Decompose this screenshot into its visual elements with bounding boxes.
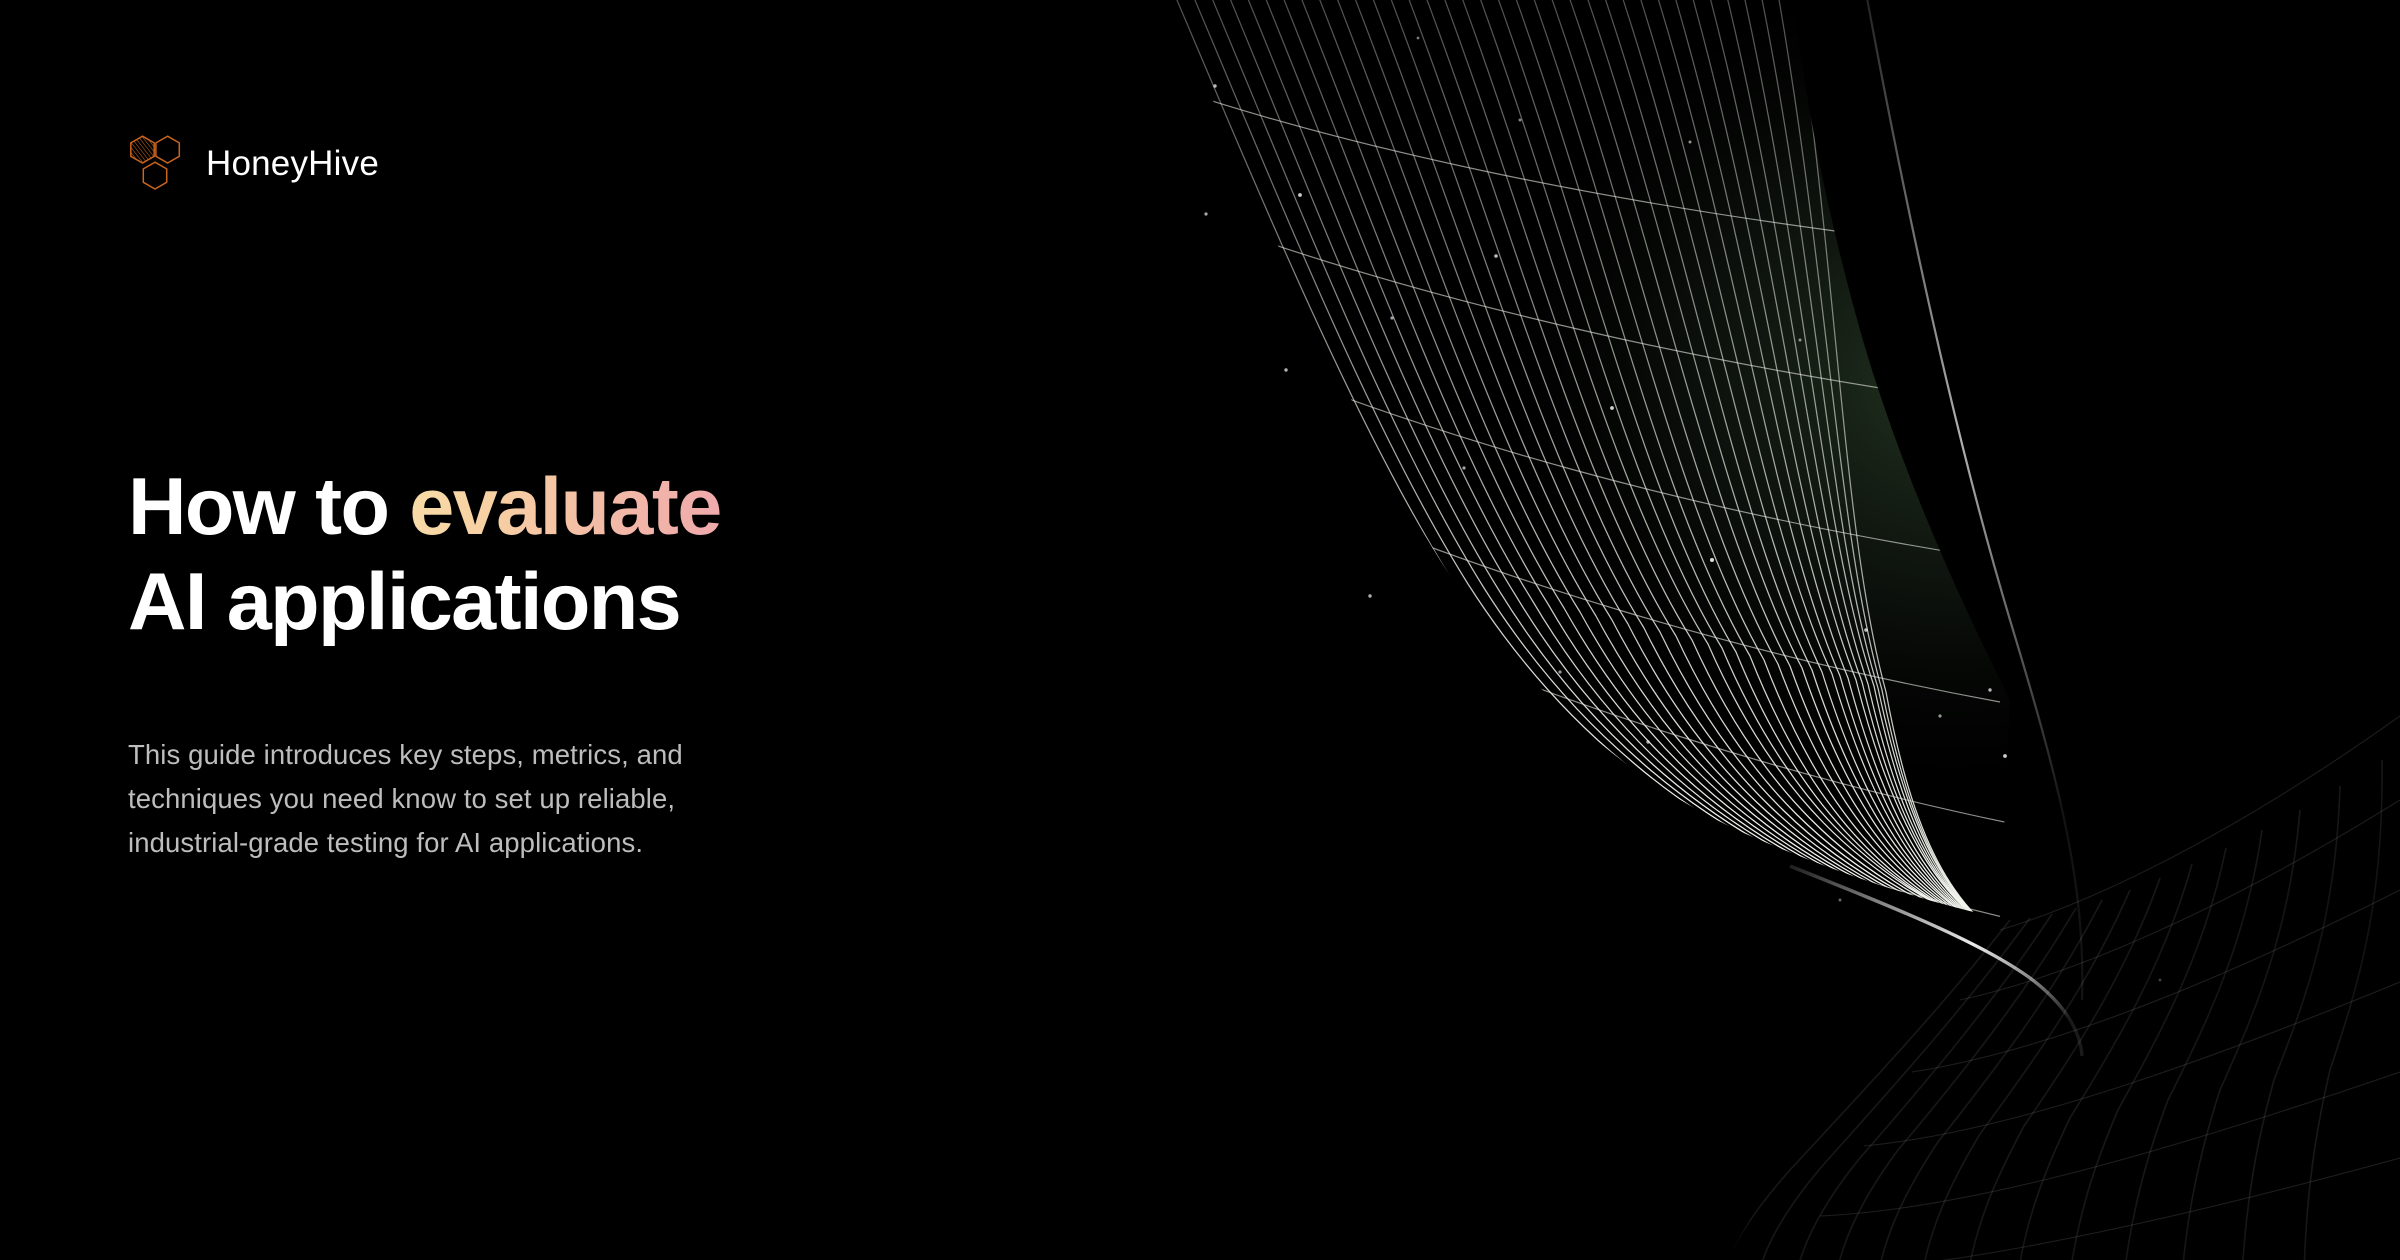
brand-name: HoneyHive bbox=[206, 146, 379, 181]
headline-line-1: How to evaluate bbox=[128, 462, 721, 552]
subcopy-line-2: techniques you need know to set up relia… bbox=[128, 777, 928, 821]
subcopy-line-3: industrial-grade testing for AI applicat… bbox=[128, 821, 928, 865]
subcopy-line-1: This guide introduces key steps, metrics… bbox=[128, 733, 928, 777]
page-title: How to evaluate AI applications bbox=[128, 460, 721, 650]
hero-subcopy: This guide introduces key steps, metrics… bbox=[128, 733, 928, 865]
hero-page: HoneyHive How to evaluate AI application… bbox=[0, 0, 2400, 1260]
headline-accent-word: evaluate bbox=[409, 462, 720, 552]
headline-prefix: How to bbox=[128, 462, 409, 552]
brand-logo[interactable]: HoneyHive bbox=[128, 134, 379, 192]
twisted-mesh-ribbon-graphic bbox=[1000, 0, 2400, 1260]
headline-line-2: AI applications bbox=[128, 557, 680, 647]
honeycomb-hexagons-icon bbox=[128, 134, 184, 192]
